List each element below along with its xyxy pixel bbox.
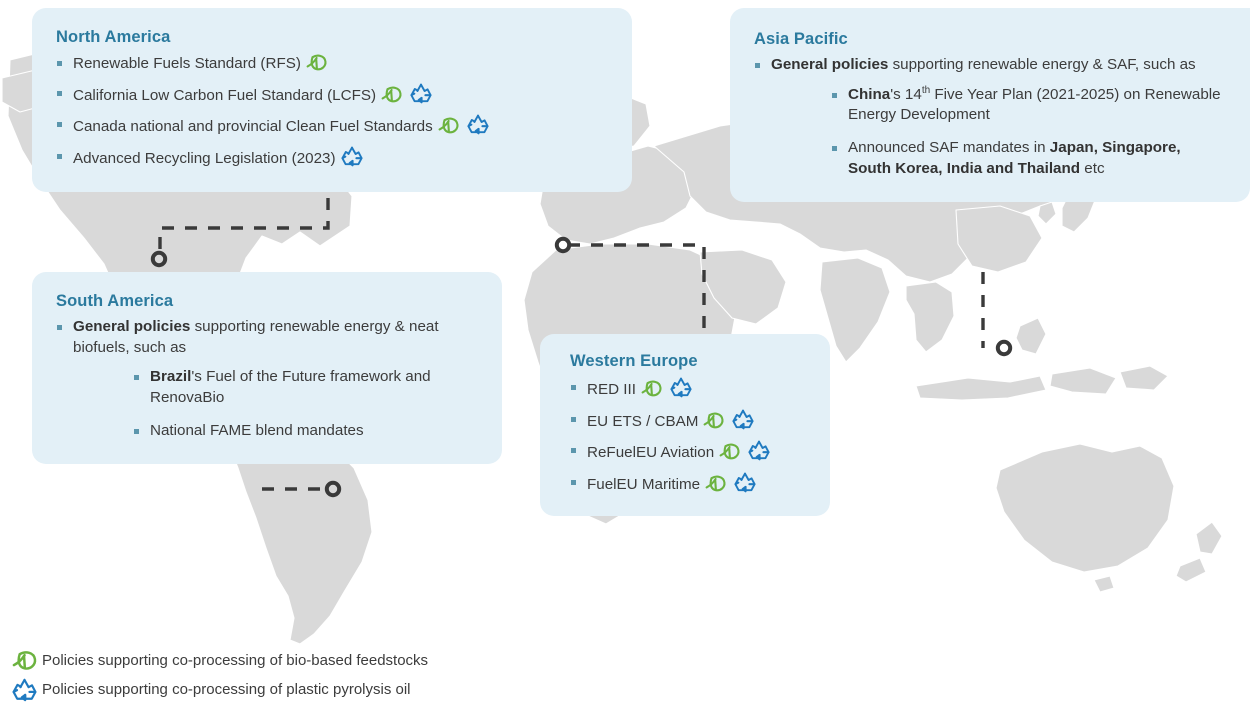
leaf-icon: [719, 442, 741, 461]
legend-row-bio: Policies supporting co-processing of bio…: [12, 646, 428, 675]
panel-asia-pacific: Asia Pacific General policies supporting…: [730, 8, 1250, 202]
recycle-icon: [341, 146, 363, 167]
panel-title-western-europe: Western Europe: [570, 352, 812, 370]
country-name: Brazil: [150, 368, 191, 385]
bullet-square: [571, 448, 576, 453]
bullet-square: [571, 480, 576, 485]
list-item: Announced SAF mandates in Japan, Singapo…: [832, 138, 1226, 179]
policy-label-bold: General policies: [771, 56, 888, 73]
list-item: RED III: [570, 377, 812, 401]
bullet-square: [57, 122, 62, 127]
policy-label: 's 14: [890, 86, 922, 103]
ordinal-suffix: th: [922, 85, 930, 96]
legend-label: Policies supporting co-processing of pla…: [42, 682, 411, 697]
bullet-square: [755, 63, 760, 68]
bullet-square: [57, 154, 62, 159]
bullet-square: [134, 429, 139, 434]
recycle-icon: [732, 409, 754, 430]
policy-label: FuelEU Maritime: [587, 476, 700, 493]
list-item: General policies supporting renewable en…: [56, 317, 480, 441]
leaf-icon: [12, 649, 42, 672]
list-item: EU ETS / CBAM: [570, 409, 812, 433]
policy-label: Renewable Fuels Standard (RFS): [73, 55, 301, 72]
bullet-square: [134, 375, 139, 380]
list-item: Advanced Recycling Legislation (2023): [56, 146, 610, 170]
policy-label: supporting renewable energy & SAF, such …: [888, 56, 1195, 73]
policy-label-bold: General policies: [73, 318, 190, 335]
list-item: ReFuelEU Aviation: [570, 440, 812, 464]
recycle-icon: [748, 440, 770, 461]
policy-label: National FAME blend mandates: [150, 422, 364, 439]
policy-label: California Low Carbon Fuel Standard (LCF…: [73, 87, 376, 104]
leaf-icon: [641, 379, 663, 398]
panel-north-america: North America Renewable Fuels Standard (…: [32, 8, 632, 192]
panel-title-south-america: South America: [56, 292, 480, 310]
recycle-icon: [467, 114, 489, 135]
bullet-square: [832, 93, 837, 98]
recycle-icon: [734, 472, 756, 493]
legend: Policies supporting co-processing of bio…: [12, 646, 428, 704]
panel-title-asia-pacific: Asia Pacific: [754, 30, 1226, 48]
list-item: General policies supporting renewable en…: [754, 55, 1226, 179]
leaf-icon: [705, 474, 727, 493]
leaf-icon: [381, 85, 403, 104]
panel-south-america: South America General policies supportin…: [32, 272, 502, 464]
policy-list-north-america: Renewable Fuels Standard (RFS) Californi…: [56, 53, 610, 170]
list-item: Brazil's Fuel of the Future framework an…: [134, 367, 480, 408]
bullet-square: [832, 146, 837, 151]
list-item: Renewable Fuels Standard (RFS): [56, 53, 610, 75]
panel-title-north-america: North America: [56, 28, 610, 46]
bullet-square: [57, 91, 62, 96]
world-policy-map: North America Renewable Fuels Standard (…: [0, 0, 1258, 708]
policy-list-asia-pacific: General policies supporting renewable en…: [754, 55, 1226, 179]
bullet-square: [571, 417, 576, 422]
policy-label: Advanced Recycling Legislation (2023): [73, 150, 336, 167]
list-item: Canada national and provincial Clean Fue…: [56, 114, 610, 138]
recycle-icon: [12, 678, 42, 702]
list-item: China's 14th Five Year Plan (2021-2025) …: [832, 85, 1226, 126]
policy-label: EU ETS / CBAM: [587, 413, 698, 430]
bullet-square: [57, 325, 62, 330]
policy-label: ReFuelEU Aviation: [587, 444, 714, 461]
bullet-square: [571, 385, 576, 390]
leaf-icon: [306, 53, 328, 72]
legend-row-pyrolysis: Policies supporting co-processing of pla…: [12, 675, 428, 704]
list-item: California Low Carbon Fuel Standard (LCF…: [56, 83, 610, 107]
bullet-square: [57, 61, 62, 66]
list-item: National FAME blend mandates: [134, 421, 480, 442]
country-name: China: [848, 86, 890, 103]
policy-sublist-south-america: Brazil's Fuel of the Future framework an…: [73, 367, 480, 441]
policy-label: Announced SAF mandates in: [848, 139, 1050, 156]
panel-western-europe: Western Europe RED III EU ETS / CBAM ReF…: [540, 334, 830, 516]
list-item: FuelEU Maritime: [570, 472, 812, 496]
policy-label: etc: [1080, 160, 1104, 177]
leaf-icon: [703, 411, 725, 430]
policy-label: RED III: [587, 381, 636, 398]
recycle-icon: [670, 377, 692, 398]
legend-label: Policies supporting co-processing of bio…: [42, 653, 428, 668]
policy-list-south-america: General policies supporting renewable en…: [56, 317, 480, 441]
policy-list-western-europe: RED III EU ETS / CBAM ReFuelEU Aviation …: [570, 377, 812, 496]
policy-sublist-asia-pacific: China's 14th Five Year Plan (2021-2025) …: [771, 85, 1226, 180]
leaf-icon: [438, 116, 460, 135]
recycle-icon: [410, 83, 432, 104]
policy-label: 's Fuel of the Future framework and Reno…: [150, 368, 431, 406]
policy-label: Canada national and provincial Clean Fue…: [73, 118, 433, 135]
